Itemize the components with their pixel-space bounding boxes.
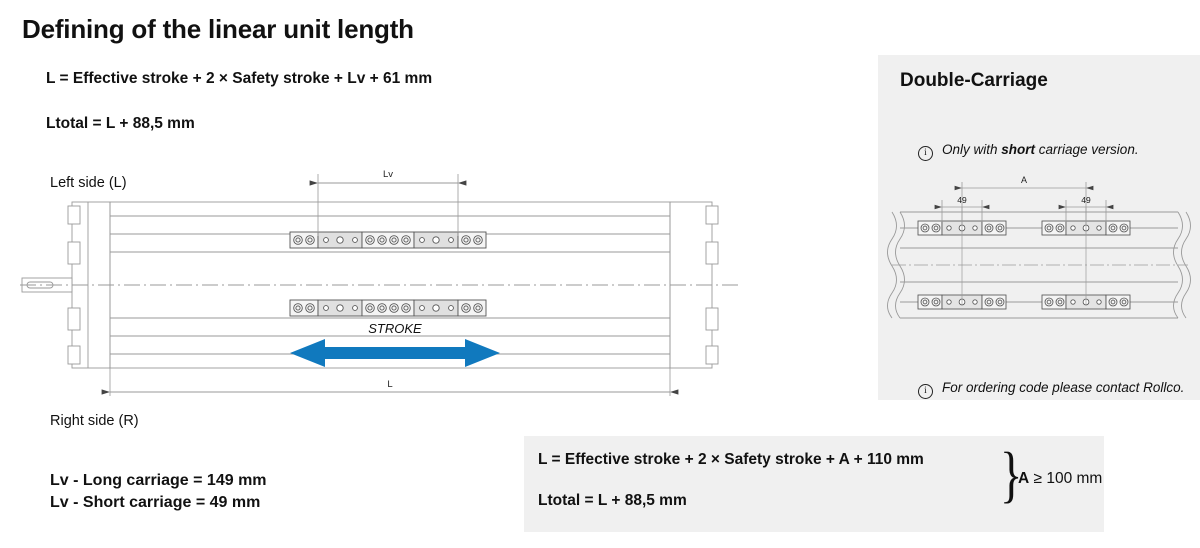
dimension-49-left-label: 49 bbox=[957, 195, 967, 205]
formula-length-main: L = Effective stroke + 2 × Safety stroke… bbox=[46, 70, 432, 88]
formula-ltotal-double: Ltotal = L + 88,5 mm bbox=[538, 492, 687, 510]
condition-a-rest: ≥ 100 mm bbox=[1029, 470, 1102, 487]
stroke-label: STROKE bbox=[368, 321, 422, 336]
formula-ltotal-main: Ltotal = L + 88,5 mm bbox=[46, 115, 195, 133]
dimension-49-right-label: 49 bbox=[1081, 195, 1091, 205]
note-ordering-code: iFor ordering code please contact Rollco… bbox=[918, 380, 1184, 398]
condition-a-var: A bbox=[1018, 470, 1029, 487]
double-carriage-drawing: A 49 49 bbox=[878, 160, 1200, 360]
dimension-a: A bbox=[962, 175, 1086, 225]
info-circle-icon: i bbox=[918, 384, 933, 399]
linear-unit-side-view-drawing: Lv STROKE L bbox=[0, 150, 760, 410]
note-ordering-text: For ordering code please contact Rollco. bbox=[942, 380, 1184, 395]
stroke-arrow: STROKE bbox=[290, 321, 500, 367]
dimension-49-left: 49 bbox=[942, 195, 982, 305]
dimension-49-right: 49 bbox=[1066, 195, 1106, 305]
note-short-emphasis: short bbox=[1001, 142, 1035, 157]
note-short-prefix: Only with bbox=[942, 142, 1001, 157]
dimension-lv: Lv bbox=[318, 169, 458, 236]
note-short-carriage-version: iOnly with short carriage version. bbox=[918, 142, 1139, 160]
label-right-side: Right side (R) bbox=[50, 413, 139, 429]
dimension-lv-label: Lv bbox=[383, 169, 393, 180]
carriage-bottom bbox=[290, 300, 486, 316]
formula-length-double: L = Effective stroke + 2 × Safety stroke… bbox=[538, 451, 924, 469]
info-circle-icon: i bbox=[918, 146, 933, 161]
page-title: Defining of the linear unit length bbox=[22, 14, 414, 45]
dimension-l-label: L bbox=[387, 379, 392, 390]
condition-a-minimum: A ≥ 100 mm bbox=[1018, 470, 1102, 488]
dimension-a-label: A bbox=[1021, 175, 1027, 185]
note-lv-short-carriage: Lv - Short carriage = 49 mm bbox=[50, 494, 260, 512]
note-short-suffix: carriage version. bbox=[1035, 142, 1139, 157]
dimension-l: L bbox=[110, 368, 670, 396]
double-carriage-title: Double-Carriage bbox=[900, 70, 1048, 92]
note-lv-long-carriage: Lv - Long carriage = 149 mm bbox=[50, 472, 267, 490]
carriage-top bbox=[290, 232, 486, 248]
